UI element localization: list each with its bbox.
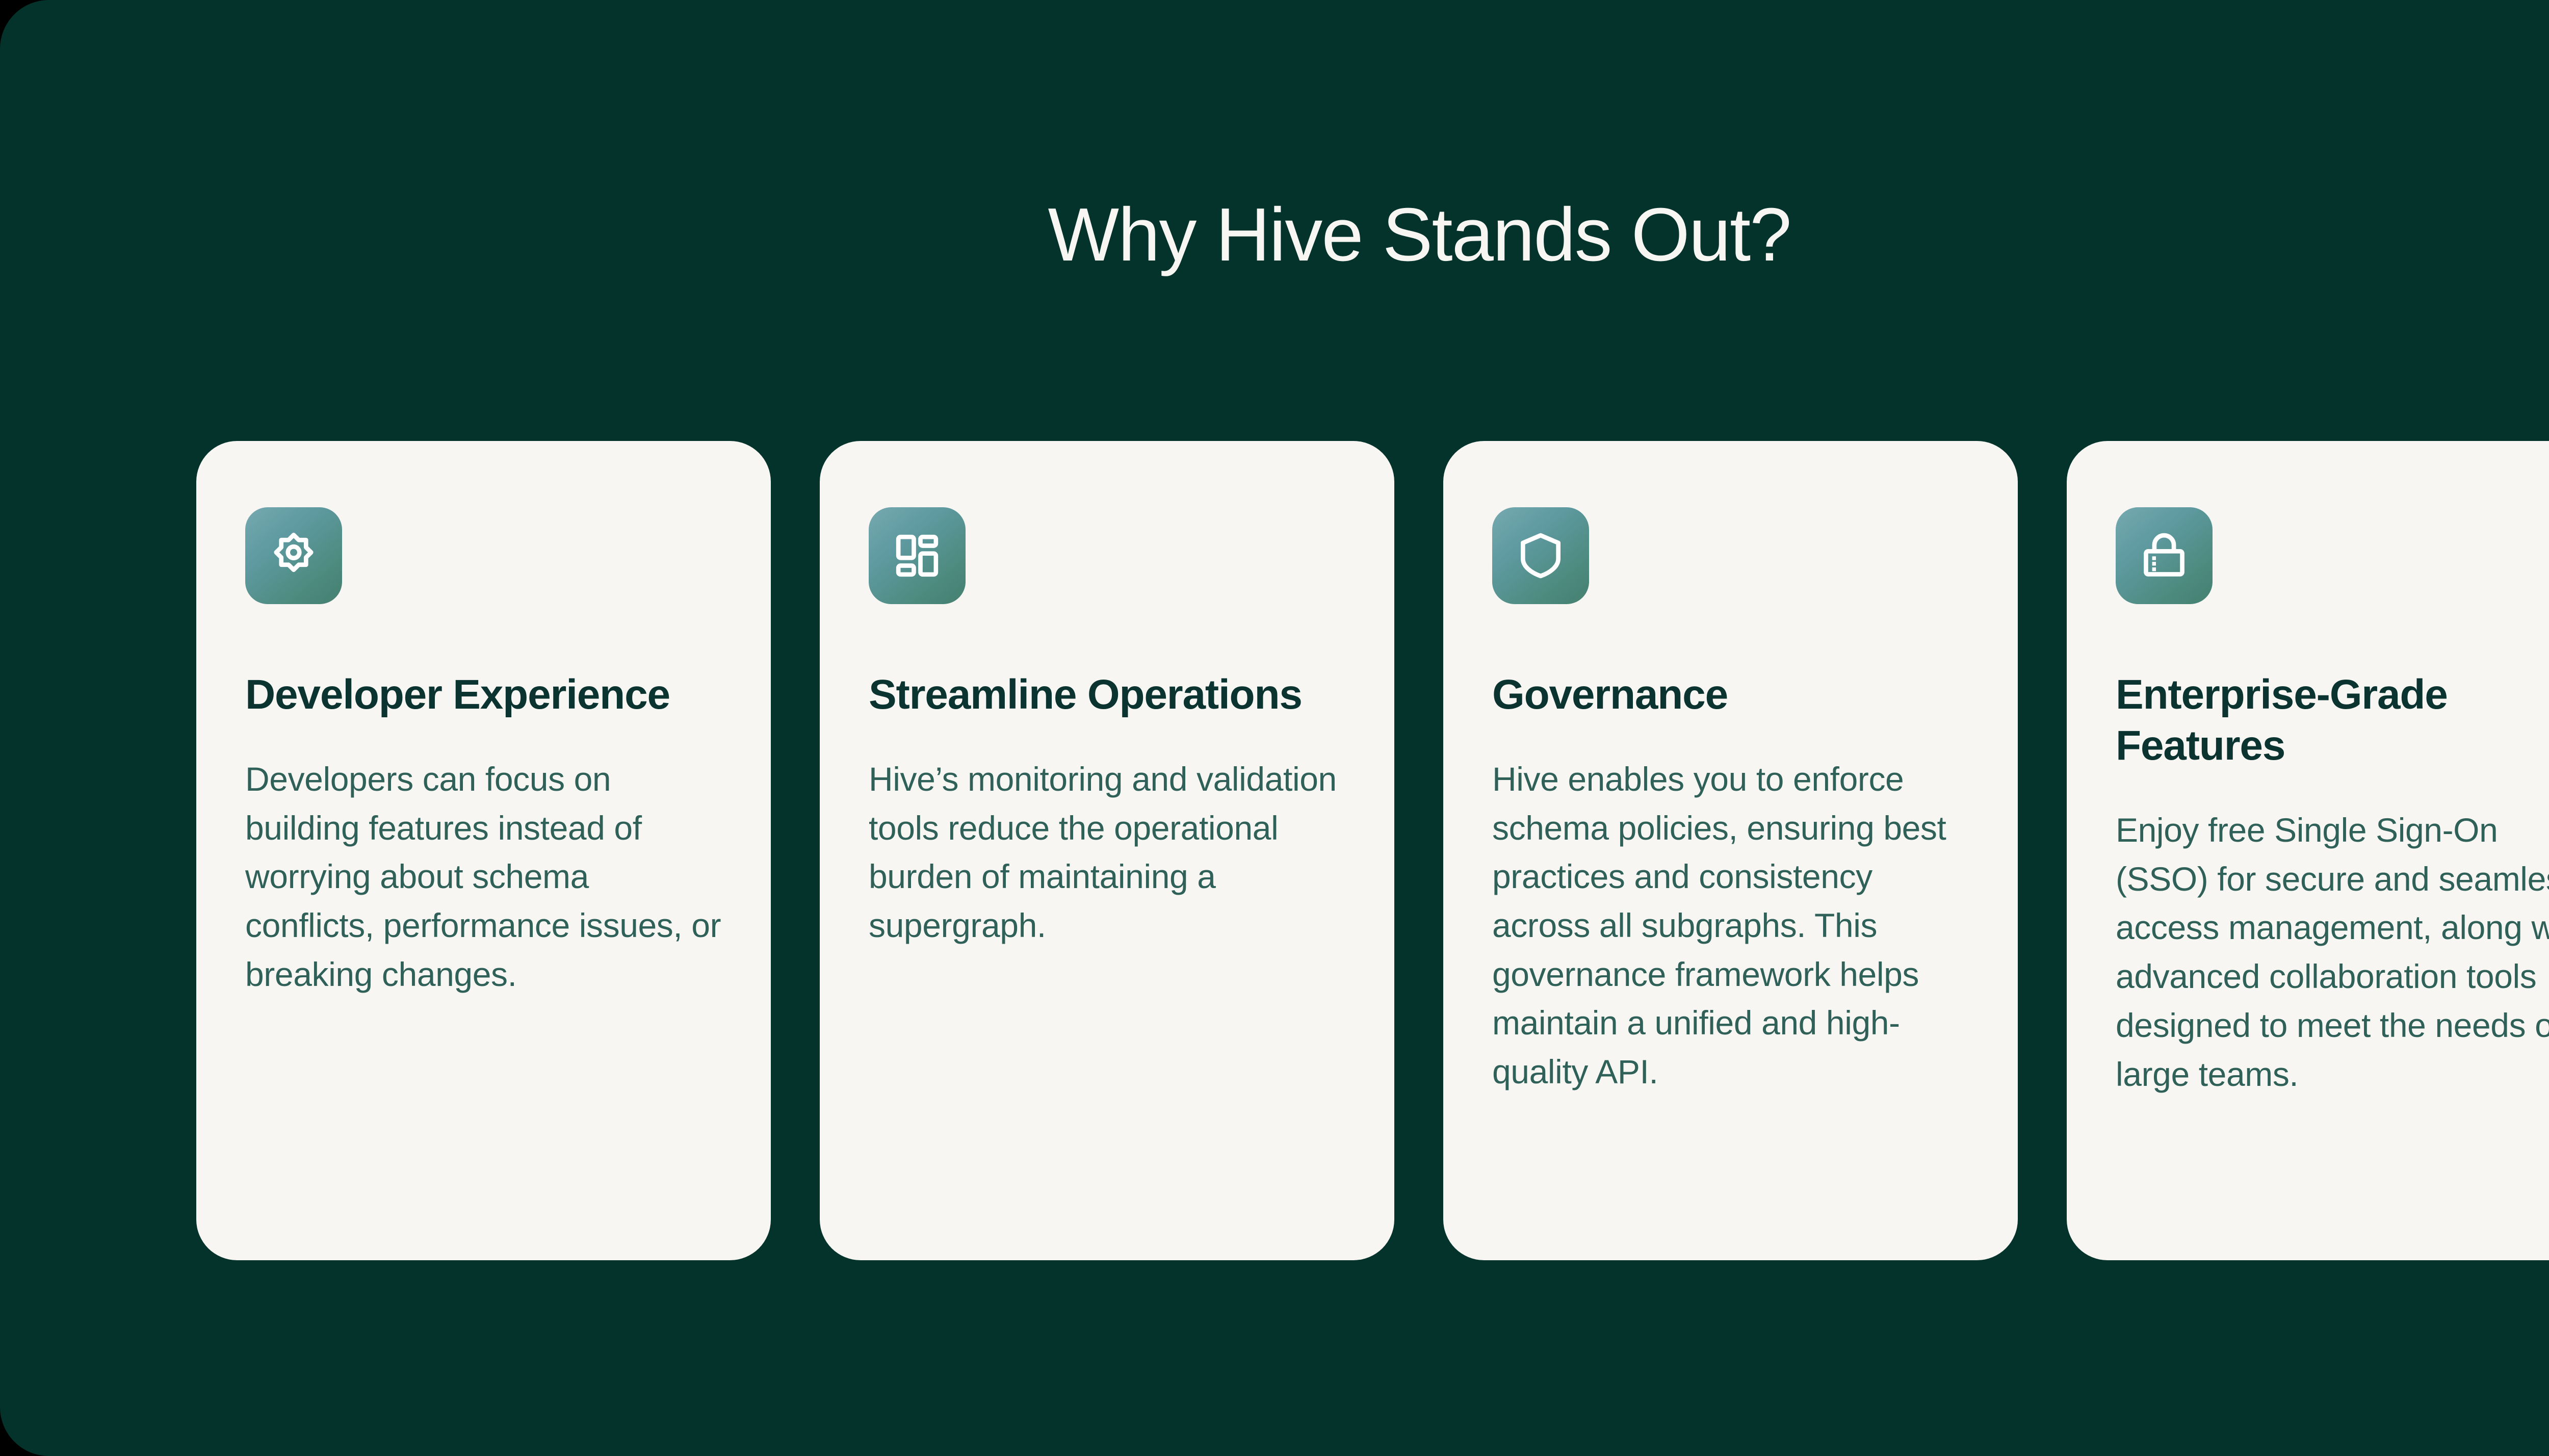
icon-tile — [1492, 507, 1589, 604]
dashboard-layout-icon — [891, 529, 944, 582]
icon-tile — [869, 507, 966, 604]
card-body: Hive enables you to enforce schema polic… — [1492, 755, 1969, 1097]
card-title: Governance — [1492, 669, 1969, 720]
card-title: Streamline Operations — [869, 669, 1345, 720]
card-body: Developers can focus on building feature… — [245, 755, 722, 999]
feature-card-governance[interactable]: Governance Hive enables you to enforce s… — [1443, 441, 2018, 1260]
feature-card-enterprise-grade-features[interactable]: Enterprise-Grade Features Enjoy free Sin… — [2067, 441, 2549, 1260]
feature-card-streamline-operations[interactable]: Streamline Operations Hive’s monitoring … — [820, 441, 1394, 1260]
why-hive-stands-out-section: Why Hive Stands Out? Developer Experienc… — [0, 0, 2549, 1456]
feature-card-grid: Developer Experience Developers can focu… — [196, 441, 2549, 1260]
card-title: Enterprise-Grade Features — [2116, 669, 2549, 771]
feature-card-developer-experience[interactable]: Developer Experience Developers can focu… — [196, 441, 771, 1260]
settings-star-icon — [267, 529, 320, 582]
card-body: Enjoy free Single Sign-On (SSO) for secu… — [2116, 806, 2549, 1099]
page-title: Why Hive Stands Out? — [0, 194, 2549, 277]
icon-tile — [2116, 507, 2213, 604]
card-body: Hive’s monitoring and validation tools r… — [869, 755, 1345, 950]
lock-icon — [2138, 529, 2191, 582]
shield-icon — [1514, 529, 1567, 582]
icon-tile — [245, 507, 342, 604]
card-title: Developer Experience — [245, 669, 722, 720]
